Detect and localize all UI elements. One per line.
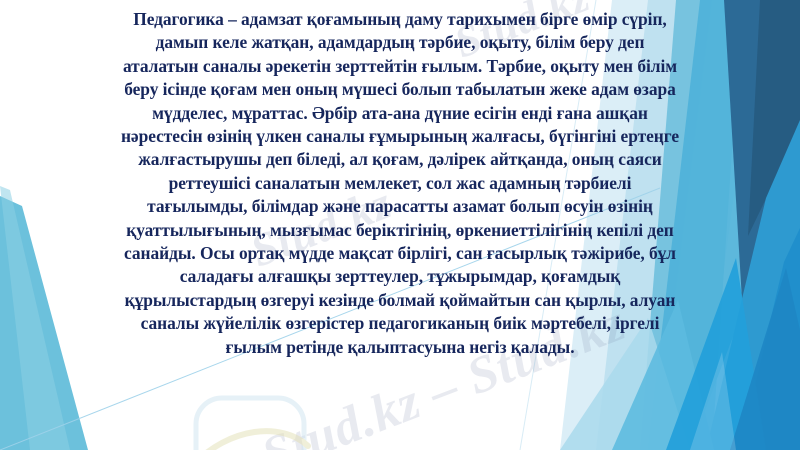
body-line: беру ісінде қоғам мен оның мүшесі болып … bbox=[124, 79, 676, 99]
body-line: саладағы алғашқы зерттеулер, тұжырымдар,… bbox=[180, 266, 620, 286]
body-line: саналы жүйелілік өзгерістер педагогиканы… bbox=[141, 313, 660, 333]
body-line: мүдделес, мұраттас. Әрбір ата-ана дүние … bbox=[152, 103, 648, 123]
logo-yellow-arc bbox=[192, 431, 308, 450]
decor-lower-white-sliver bbox=[690, 352, 736, 450]
slide-body-text: Педагогика – адамзат қоғамының даму тари… bbox=[50, 8, 750, 359]
body-line: санайды. Осы ортақ мүдде мақсат бірлігі,… bbox=[124, 243, 676, 263]
body-line: реттеушісі саналатын мемлекет, сол жас а… bbox=[169, 173, 632, 193]
body-line: дамып келе жатқан, адамдардың тәрбие, оқ… bbox=[156, 32, 645, 52]
body-line: ғылым ретінде қалыптасуына негіз қалады. bbox=[226, 337, 575, 357]
body-line: Педагогика – адамзат қоғамының даму тари… bbox=[133, 9, 666, 29]
body-line: аталатын саналы әрекетін зерттейтін ғылы… bbox=[123, 56, 677, 76]
body-line: құрылыстардың өзгеруі кезінде болмай қой… bbox=[125, 290, 676, 310]
studkz-logo-watermark bbox=[186, 392, 366, 450]
body-line: жалғастырушы деп біледі, ал қоғам, дәлір… bbox=[138, 149, 662, 169]
slide-canvas: Stud.kz Stud.kz Stud.kz Stud.kz – Stud.k… bbox=[0, 0, 800, 450]
logo-rounded-square bbox=[196, 398, 304, 450]
body-line: қуаттылығының, мызғымас беріктігінің, өр… bbox=[126, 220, 674, 240]
body-line: нәрестесін өзінің үлкен саналы ғұмырының… bbox=[121, 126, 679, 146]
body-line: тағылымды, білімдар және парасатты азама… bbox=[147, 196, 653, 216]
decor-deepblue-slab bbox=[748, 0, 800, 236]
